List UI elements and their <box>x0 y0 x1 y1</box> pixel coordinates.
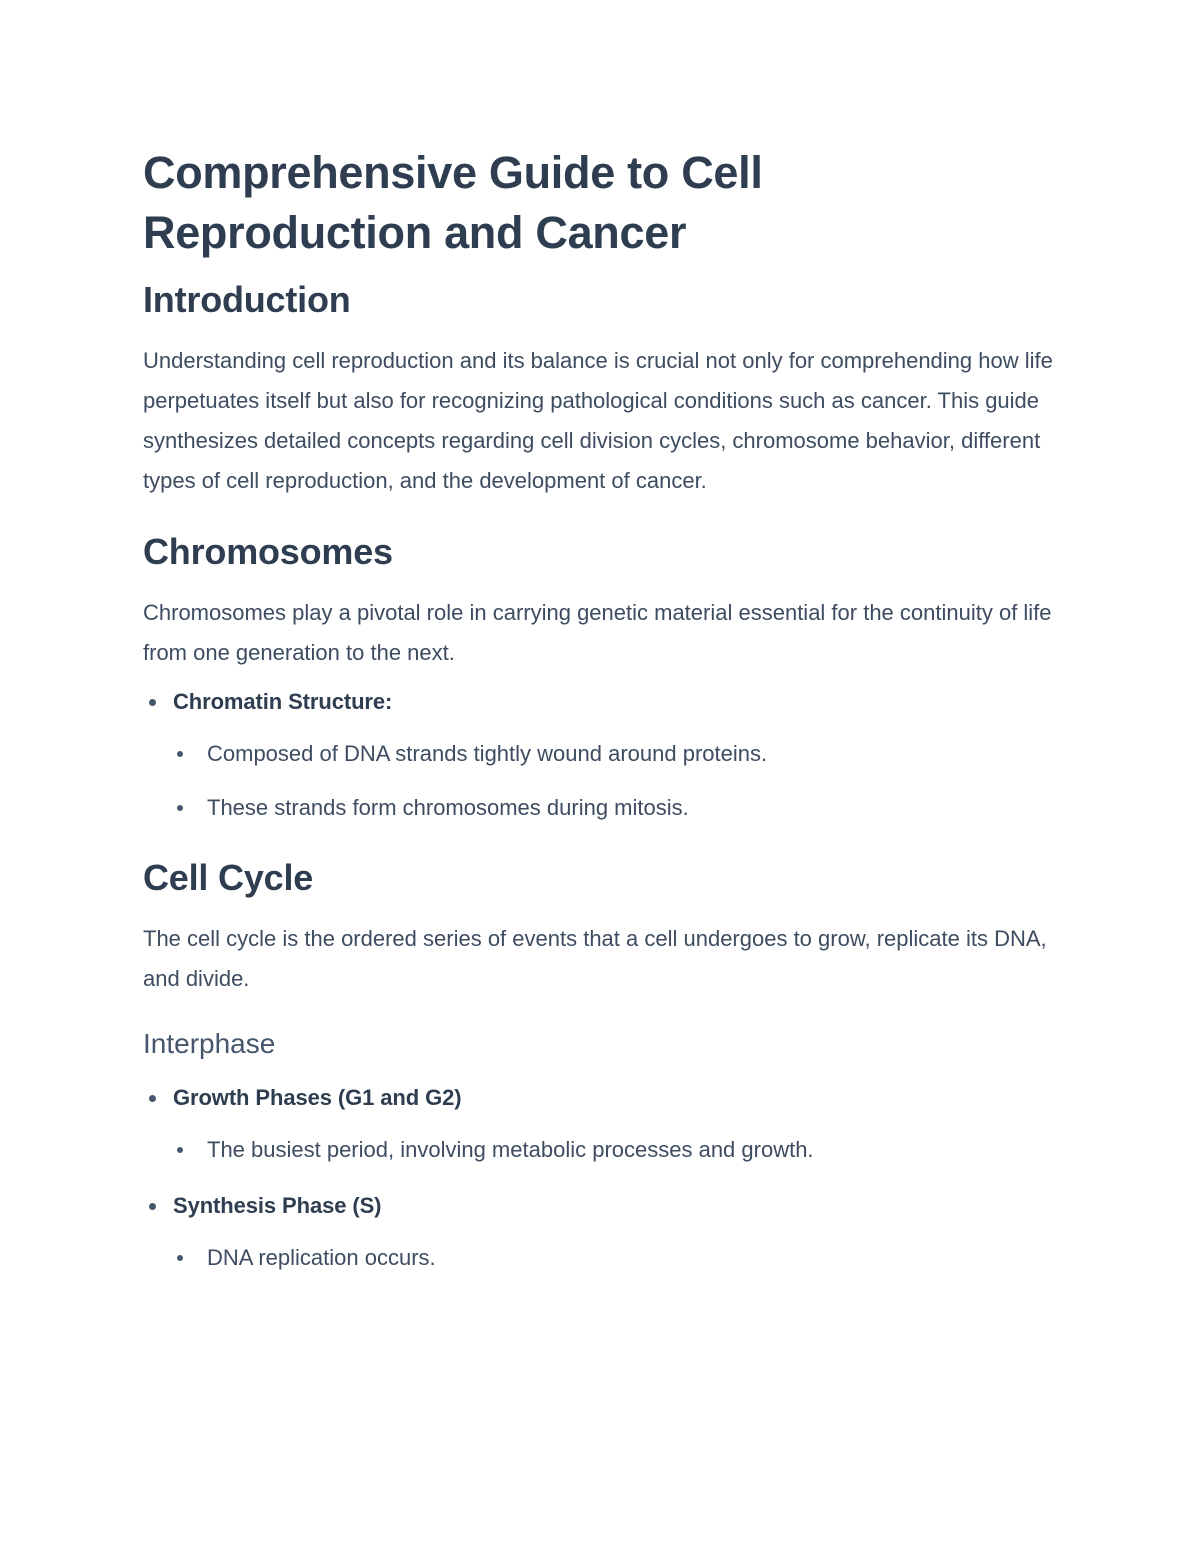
list-item: The busiest period, involving metabolic … <box>173 1131 1063 1169</box>
list-item: These strands form chromosomes during mi… <box>173 789 1063 827</box>
list-item: DNA replication occurs. <box>173 1239 1063 1277</box>
sub-bullet-list: Composed of DNA strands tightly wound ar… <box>173 735 1063 827</box>
document-body: Comprehensive Guide to Cell Reproduction… <box>143 143 1063 1277</box>
sub-bullet-text: DNA replication occurs. <box>207 1239 1063 1277</box>
sub-bullet-text: The busiest period, involving metabolic … <box>207 1131 1063 1169</box>
sub-bullet-text: Composed of DNA strands tightly wound ar… <box>207 735 1063 773</box>
cell-cycle-paragraph: The cell cycle is the ordered series of … <box>143 919 1063 999</box>
sub-bullet-list: DNA replication occurs. <box>173 1239 1063 1277</box>
introduction-paragraph: Understanding cell reproduction and its … <box>143 341 1063 501</box>
list-item: Synthesis Phase (S) DNA replication occu… <box>143 1187 1063 1277</box>
interphase-bullet-list: Growth Phases (G1 and G2) The busiest pe… <box>143 1079 1063 1277</box>
sub-bullet-text: These strands form chromosomes during mi… <box>207 789 1063 827</box>
list-item: Chromatin Structure: Composed of DNA str… <box>143 683 1063 827</box>
chromosomes-bullet-list: Chromatin Structure: Composed of DNA str… <box>143 683 1063 827</box>
bullet-label: Growth Phases (G1 and G2) <box>173 1079 1063 1117</box>
sub-bullet-list: The busiest period, involving metabolic … <box>173 1131 1063 1169</box>
bullet-label: Chromatin Structure: <box>173 683 1063 721</box>
section-heading-introduction: Introduction <box>143 277 1063 323</box>
list-item: Composed of DNA strands tightly wound ar… <box>173 735 1063 773</box>
bullet-label: Synthesis Phase (S) <box>173 1187 1063 1225</box>
chromosomes-paragraph: Chromosomes play a pivotal role in carry… <box>143 593 1063 673</box>
section-heading-chromosomes: Chromosomes <box>143 529 1063 575</box>
sub-heading-interphase: Interphase <box>143 1025 1063 1063</box>
document-page: Comprehensive Guide to Cell Reproduction… <box>0 0 1200 1553</box>
list-item: Growth Phases (G1 and G2) The busiest pe… <box>143 1079 1063 1169</box>
section-heading-cell-cycle: Cell Cycle <box>143 855 1063 901</box>
page-title: Comprehensive Guide to Cell Reproduction… <box>143 143 843 263</box>
